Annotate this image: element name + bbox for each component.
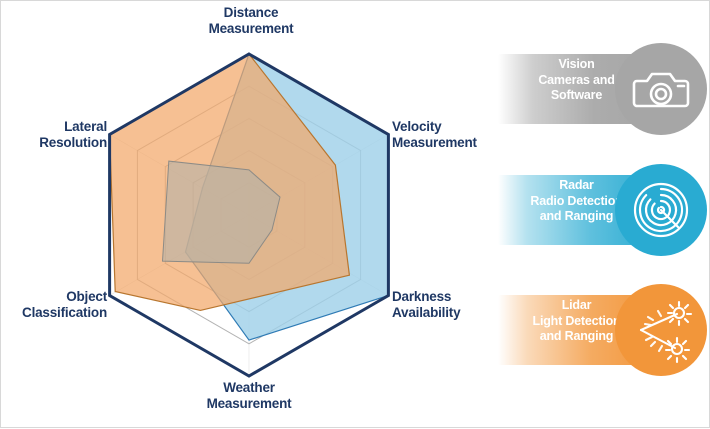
legend-item-lidar[interactable]: Lidar Light Detection and Ranging bbox=[498, 284, 710, 376]
axis-label-velocity: Velocity Measurement bbox=[392, 119, 477, 150]
legend-badge-radar bbox=[615, 164, 707, 256]
axis-label-darkness-line2: Availability bbox=[392, 305, 460, 320]
camera-icon bbox=[615, 43, 707, 135]
axis-label-darkness: Darkness Availability bbox=[392, 289, 460, 320]
legend-badge-vision bbox=[615, 43, 707, 135]
axis-label-lateral-line1: Lateral bbox=[64, 119, 107, 134]
legend: Vision Cameras and Software Radar bbox=[498, 1, 710, 429]
axis-label-velocity-line1: Velocity bbox=[392, 119, 441, 134]
axis-label-lateral-line2: Resolution bbox=[39, 135, 107, 150]
radar-waves-icon bbox=[615, 164, 707, 256]
axis-label-object-classification: Object Classification bbox=[0, 289, 107, 320]
radar-chart: Distance Measurement Velocity Measuremen… bbox=[1, 1, 501, 429]
laser-beam-icon bbox=[615, 284, 707, 376]
legend-item-vision[interactable]: Vision Cameras and Software bbox=[498, 43, 710, 135]
legend-item-radar[interactable]: Radar Radio Detection and Ranging bbox=[498, 164, 710, 256]
axis-label-distance-line2: Measurement bbox=[209, 21, 294, 36]
legend-badge-lidar bbox=[615, 284, 707, 376]
axis-label-lateral-resolution: Lateral Resolution bbox=[0, 119, 107, 150]
axis-label-weather-line1: Weather bbox=[223, 380, 275, 395]
axis-label-object-line1: Object bbox=[66, 289, 107, 304]
axis-label-distance-line1: Distance bbox=[224, 5, 279, 20]
axis-label-velocity-line2: Measurement bbox=[392, 135, 477, 150]
axis-label-darkness-line1: Darkness bbox=[392, 289, 451, 304]
axis-label-object-line2: Classification bbox=[22, 305, 107, 320]
axis-label-distance: Distance Measurement bbox=[186, 5, 316, 36]
radar-chart-svg bbox=[1, 1, 501, 429]
infographic-root: Distance Measurement Velocity Measuremen… bbox=[0, 0, 710, 428]
axis-label-weather: Weather Measurement bbox=[184, 380, 314, 411]
axis-label-weather-line2: Measurement bbox=[207, 396, 292, 411]
